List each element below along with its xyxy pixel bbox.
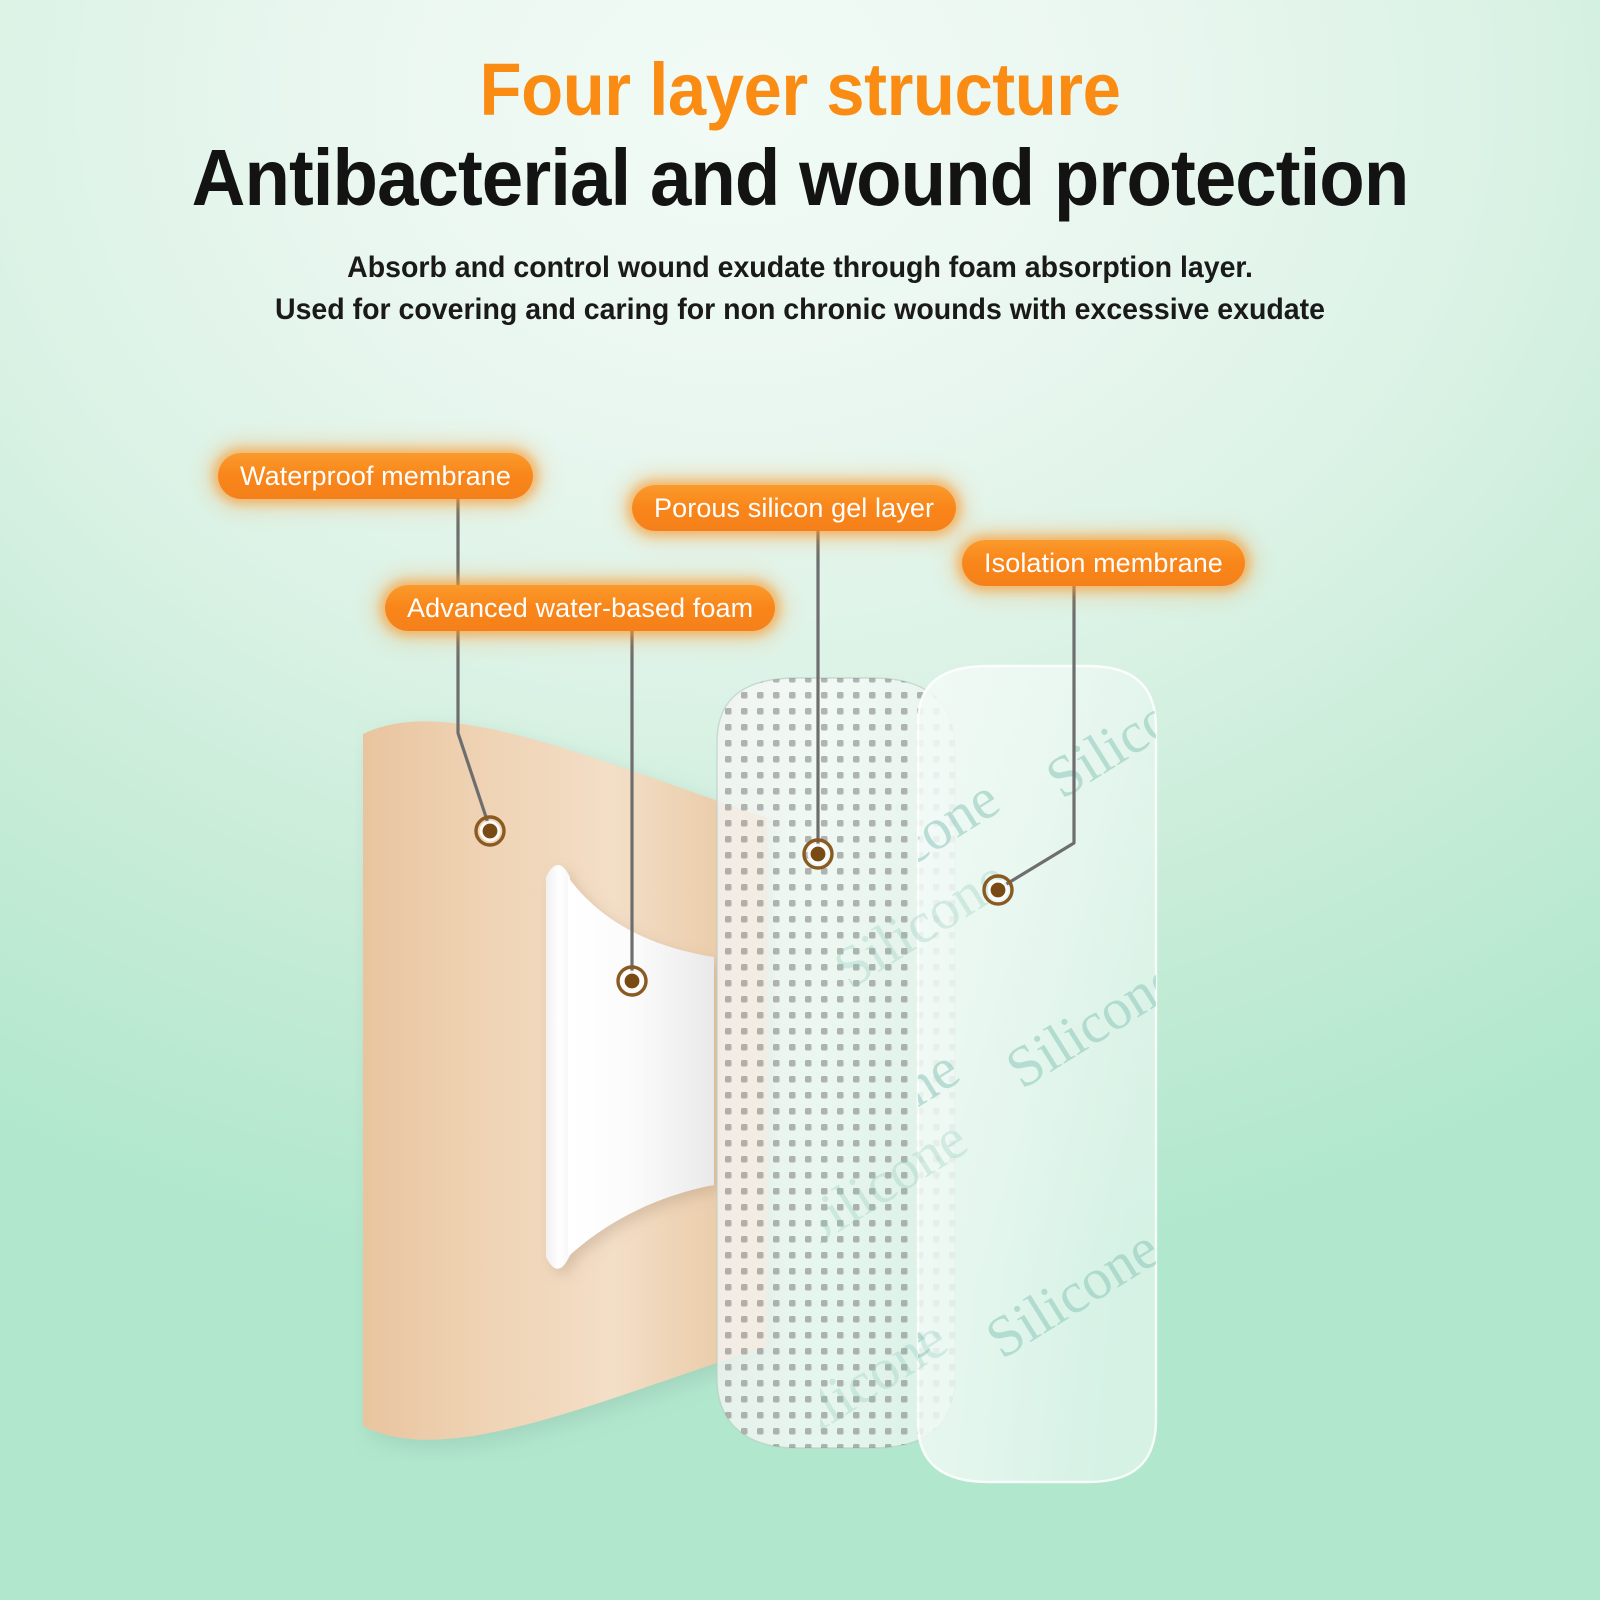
- callout-porous-silicon-gel-layer[interactable]: Porous silicon gel layer: [632, 485, 956, 531]
- infographic-canvas: Four layer structure Antibacterial and w…: [0, 0, 1600, 1600]
- callout-isolation-membrane[interactable]: Isolation membrane: [962, 540, 1245, 586]
- layer-isolation-membrane: Silicone Silicone Silicone Silicone Sili…: [912, 660, 1162, 1490]
- callout-advanced-water-based-foam[interactable]: Advanced water-based foam: [385, 585, 775, 631]
- foam-edge: [546, 865, 570, 1269]
- four-layer-product-illustration: Silicone Silicone Silicone Silicone Sili…: [0, 0, 1600, 1600]
- callout-label: Isolation membrane: [984, 548, 1223, 579]
- layer-advanced-water-based-foam: [540, 855, 720, 1285]
- callout-waterproof-membrane[interactable]: Waterproof membrane: [218, 453, 533, 499]
- callout-label: Porous silicon gel layer: [654, 493, 934, 524]
- callout-label: Waterproof membrane: [240, 461, 511, 492]
- callout-label: Advanced water-based foam: [407, 593, 753, 624]
- foam-face: [568, 877, 714, 1257]
